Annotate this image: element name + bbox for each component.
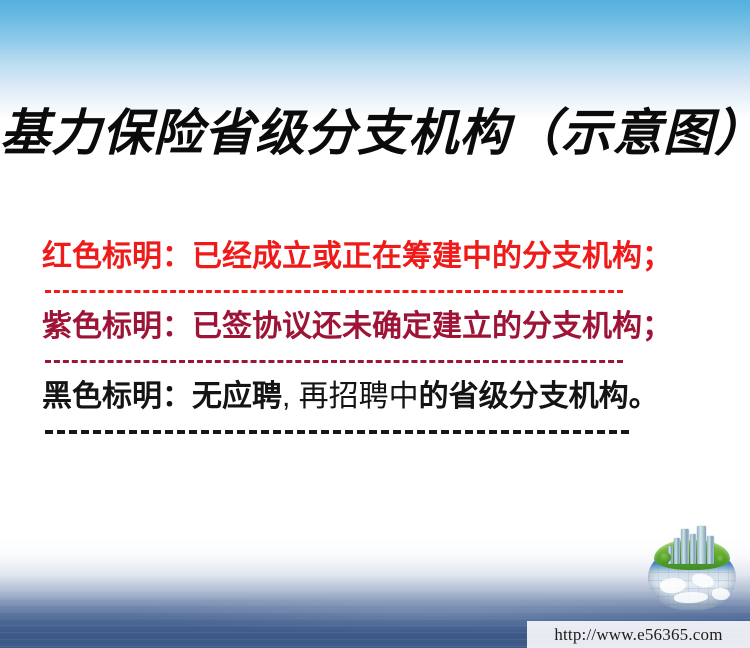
divider-purple bbox=[42, 348, 702, 376]
legend-label-red: 红色标明： bbox=[42, 240, 192, 273]
building-icon bbox=[690, 534, 696, 564]
building-icon bbox=[707, 536, 714, 564]
legend-text-black-part3: 的省级分支机构。 bbox=[419, 380, 659, 413]
building-icon bbox=[681, 529, 689, 564]
tree-icon bbox=[717, 555, 725, 563]
building-icon bbox=[697, 526, 706, 564]
legend-text-red: 已经成立或正在筹建中的分支机构； bbox=[192, 240, 672, 273]
legend-label-black: 黑色标明： bbox=[42, 380, 192, 413]
building-icon bbox=[674, 538, 680, 564]
page-title: 基力保险省级分支机构（示意图） bbox=[0, 101, 750, 165]
legend-text-black-part1: 无应聘 bbox=[192, 380, 282, 413]
legend-row-purple: 紫色标明：已签协议还未确定建立的分支机构； bbox=[42, 306, 702, 348]
legend-text-purple: 已签协议还未确定建立的分支机构； bbox=[192, 310, 672, 343]
globe-landmass bbox=[712, 588, 730, 600]
legend-label-purple: 紫色标明： bbox=[42, 310, 192, 343]
legend-block: 红色标明：已经成立或正在筹建中的分支机构； 紫色标明：已签协议还未确定建立的分支… bbox=[42, 236, 702, 446]
legend-row-black: 黑色标明：无应聘, 再招聘中的省级分支机构。 bbox=[42, 376, 702, 418]
legend-text-black-part2: , 再招聘中 bbox=[282, 380, 419, 413]
globe-city-icon bbox=[644, 522, 740, 614]
watermark-bar: http://www.e56365.com bbox=[527, 621, 750, 648]
slide-canvas: 基力保险省级分支机构（示意图） 红色标明：已经成立或正在筹建中的分支机构； 紫色… bbox=[0, 0, 750, 648]
tree-icon bbox=[660, 552, 671, 563]
legend-row-red: 红色标明：已经成立或正在筹建中的分支机构； bbox=[42, 236, 702, 278]
divider-red bbox=[42, 278, 702, 306]
watermark-url: http://www.e56365.com bbox=[554, 625, 722, 645]
divider-black bbox=[42, 418, 702, 446]
